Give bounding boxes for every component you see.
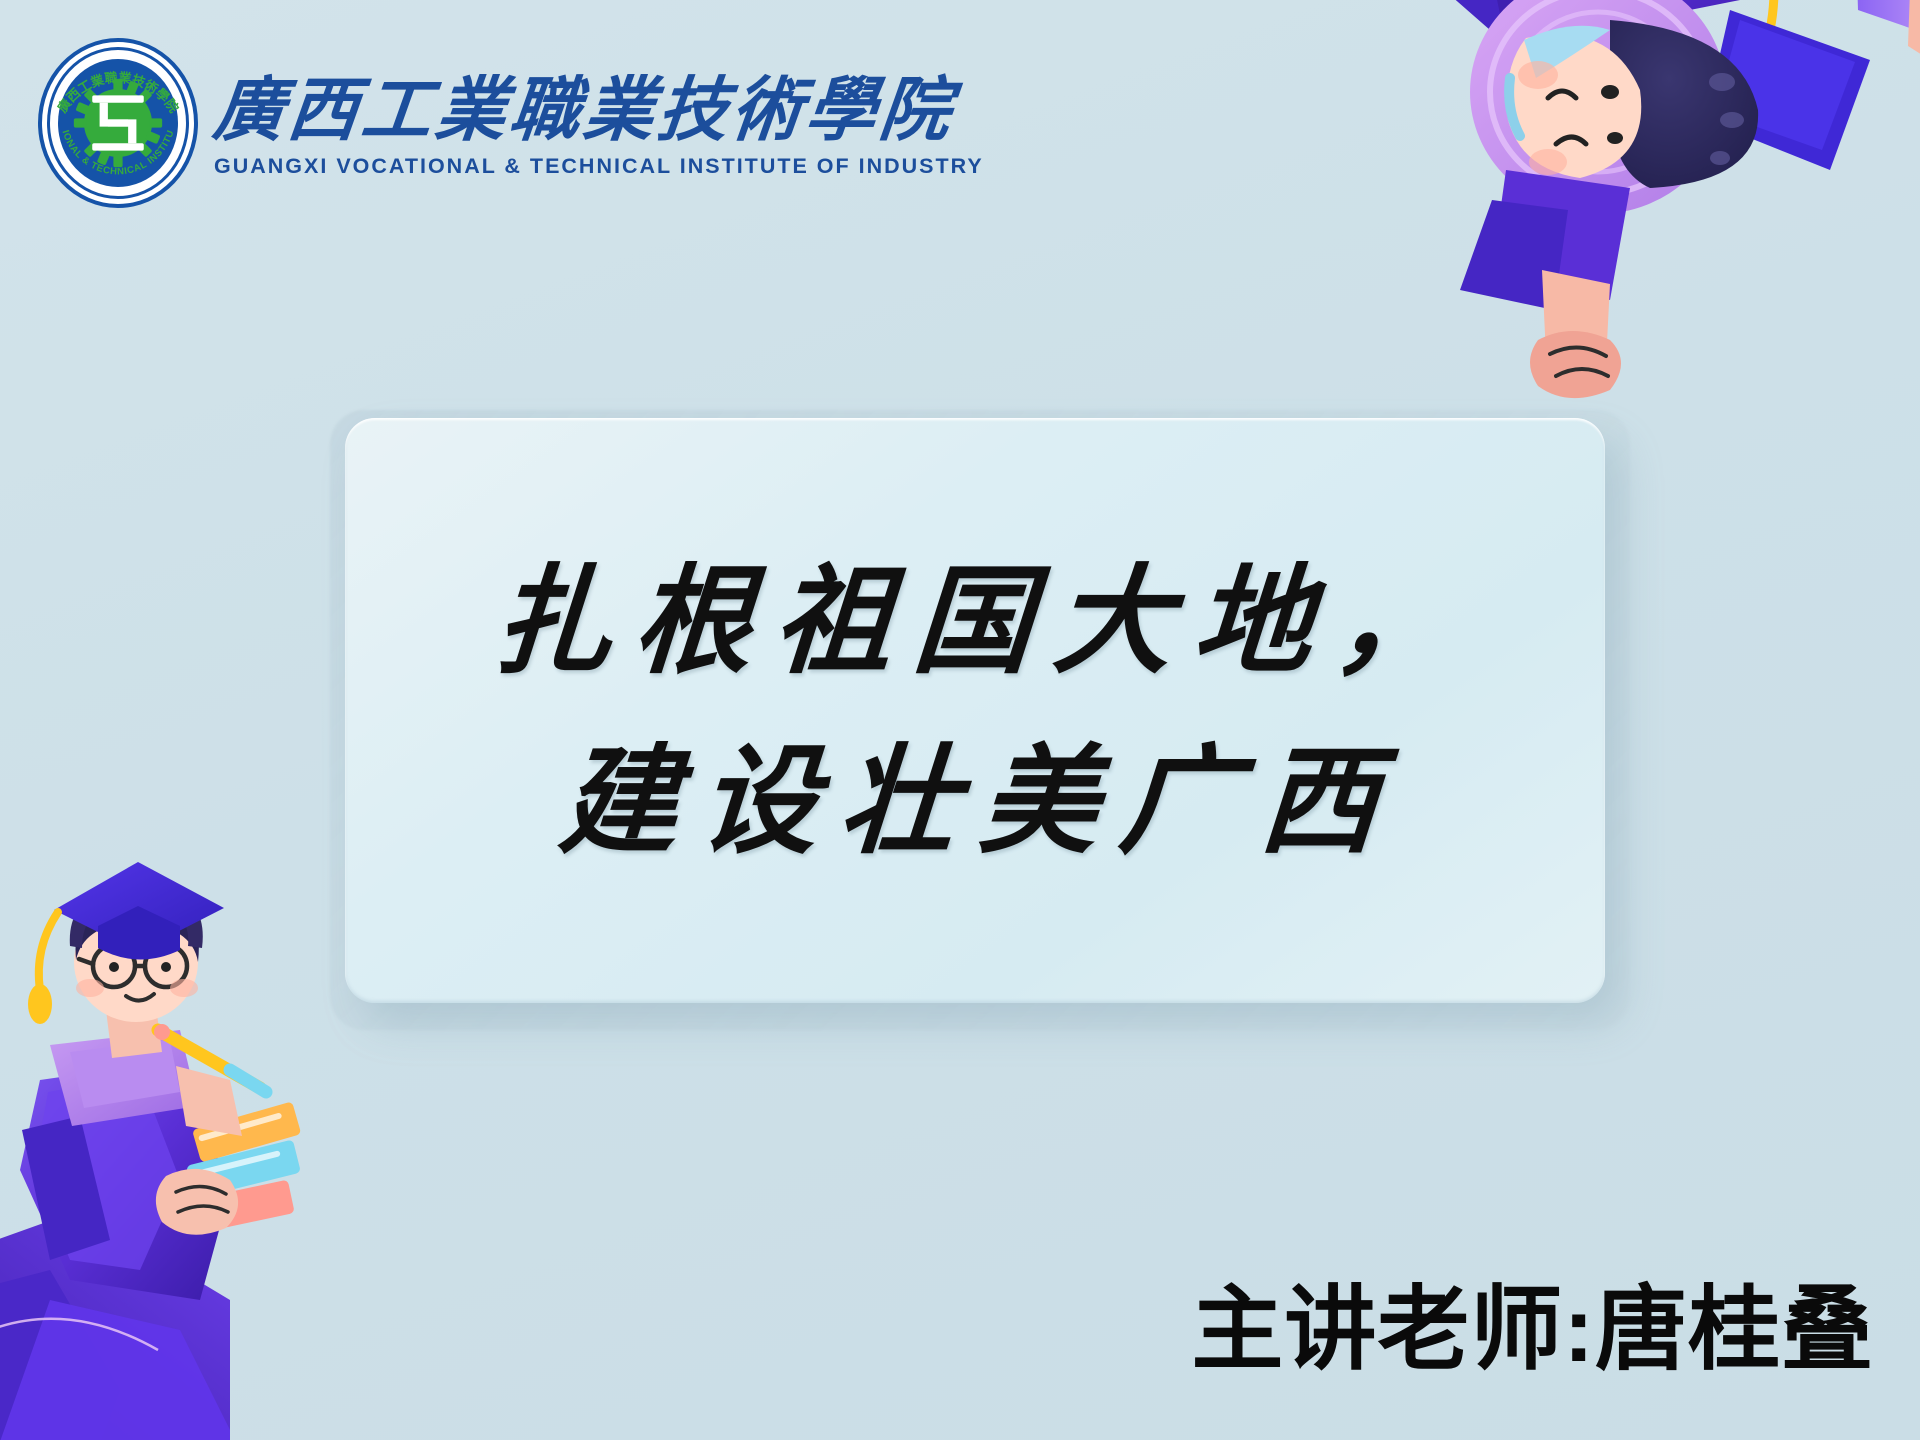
slide-title-line-1: 扎根祖国大地， bbox=[470, 531, 1481, 710]
graduate-student-inverted-icon bbox=[1310, 0, 1920, 430]
graduate-student-reading-icon bbox=[0, 830, 490, 1440]
university-name-en: GUANGXI VOCATIONAL & TECHNICAL INSTITUTE… bbox=[214, 154, 984, 179]
gear-icon bbox=[72, 77, 164, 169]
title-card: 扎根祖国大地， 建设壮美广西 bbox=[345, 418, 1605, 1003]
presenter-label: 主讲老师:唐桂叠 bbox=[1191, 1255, 1874, 1388]
university-name-cn: 廣西工業職業技術學院 bbox=[210, 73, 987, 147]
university-seal-icon: 廣西工業職業技術學院 GUANGXI VOCATIONAL & TECHNICA… bbox=[38, 38, 198, 208]
slide-title-line-2: 建设壮美广西 bbox=[544, 711, 1407, 890]
brand-header: 廣西工業職業技術學院 GUANGXI VOCATIONAL & TECHNICA… bbox=[38, 38, 984, 208]
presentation-slide: 廣西工業職業技術學院 GUANGXI VOCATIONAL & TECHNICA… bbox=[0, 0, 1920, 1440]
